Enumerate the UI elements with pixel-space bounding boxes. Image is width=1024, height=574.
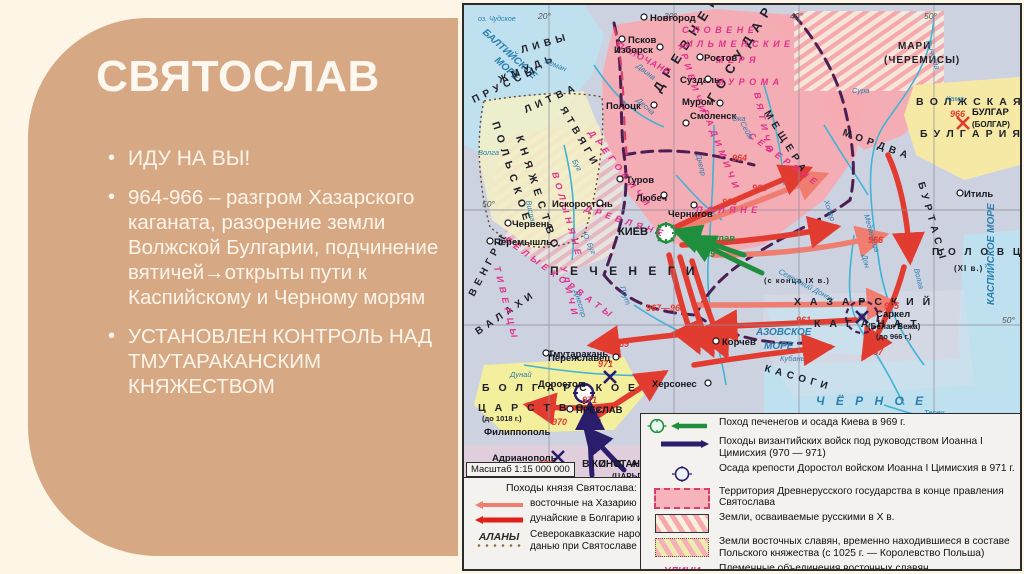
svg-text:Херсонес: Херсонес xyxy=(652,379,697,390)
svg-text:971: 971 xyxy=(582,395,597,405)
list-item: • УСТАНОВЛЕН КОНТРОЛЬ НАД ТМУТАРАКАНСКИМ… xyxy=(106,324,446,399)
svg-text:961: 961 xyxy=(796,315,811,325)
svg-text:Искоростень: Искоростень xyxy=(552,199,613,210)
byzantine-campaign-icon xyxy=(645,436,719,450)
svg-text:40°: 40° xyxy=(790,11,803,21)
svg-text:Доростол: Доростол xyxy=(538,379,584,390)
legend-symbols: Поход печенегов и осада Киева в 969 г. П… xyxy=(640,413,1020,569)
legend-item: Земли восточных славян, временно находив… xyxy=(645,536,1016,560)
svg-text:(XI в.): (XI в.) xyxy=(954,264,983,273)
legend-item-text: Земли, осваиваемые русскими в X в. xyxy=(719,512,895,524)
pecheneg-campaign-icon xyxy=(645,417,719,433)
svg-text:965: 965 xyxy=(884,301,900,311)
svg-text:Муром: Муром xyxy=(682,97,714,108)
legend-item-text: Племенные объединения восточных славян xyxy=(719,563,929,571)
svg-text:Кубань: Кубань xyxy=(780,354,805,363)
page-title: СВЯТОСЛАВ xyxy=(28,52,448,102)
legend-item: Походы византийских войск под руководств… xyxy=(645,436,1016,460)
bullet-marker: • xyxy=(108,324,115,349)
legend-item: Территория Древнерусского государства в … xyxy=(645,486,1016,510)
list-item: • ИДУ НА ВЫ! xyxy=(106,146,446,171)
svg-text:(до 1018 г.): (до 1018 г.) xyxy=(482,414,522,423)
arrow-dark-red-icon xyxy=(468,513,530,525)
svg-text:М У Р О М А: М У Р О М А xyxy=(716,77,780,87)
svg-text:50°: 50° xyxy=(924,11,937,21)
settled-lands-swatch-icon xyxy=(645,512,719,533)
svg-text:Изборск: Изборск xyxy=(614,45,653,56)
bullet-marker: • xyxy=(108,185,115,210)
legend-item: Осада крепости Доростол войском Иоанна I… xyxy=(645,463,1016,483)
svg-text:Суздаль: Суздаль xyxy=(680,75,720,86)
slavic-tribe-label-icon: УЛИЧИ xyxy=(645,563,719,571)
svg-text:967—968: 967—968 xyxy=(646,303,685,313)
svg-text:964: 964 xyxy=(732,153,747,163)
legend-item: УЛИЧИ Племенные объединения восточных сл… xyxy=(645,563,1016,571)
legend-item: Земли, осваиваемые русскими в X в. xyxy=(645,512,1016,533)
svg-text:КИЕВ: КИЕВ xyxy=(618,226,648,238)
svg-text:Дунай: Дунай xyxy=(509,370,532,379)
svg-text:50°: 50° xyxy=(482,199,495,209)
svg-text:50°: 50° xyxy=(1002,315,1015,325)
svg-text:Ч Ё Р Н О Е: Ч Ё Р Н О Е xyxy=(816,393,927,408)
map-canvas: 20°30° 40°50° 50°50° 40°40° 30° БАЛТИЙСК… xyxy=(464,5,1020,569)
alany-dotted-label-icon: АЛАНЫ xyxy=(468,529,530,548)
svg-text:(Белая Вежа): (Белая Вежа) xyxy=(868,322,921,331)
svg-text:Корчев: Корчев xyxy=(722,337,756,348)
bullet-text: УСТАНОВЛЕН КОНТРОЛЬ НАД ТМУТАРАКАНСКИМ К… xyxy=(128,325,432,398)
map-scale-bar: Масштаб 1:15 000 000 xyxy=(466,462,575,477)
legend-item-text: Поход печенегов и осада Киева в 969 г. xyxy=(719,417,905,429)
bullet-marker: • xyxy=(108,146,115,171)
svg-text:966: 966 xyxy=(950,109,966,119)
svg-text:(ЧЕРЕМИСЫ): (ЧЕРЕМИСЫ) xyxy=(884,55,960,66)
svg-text:(БОЛГАР): (БОЛГАР) xyxy=(972,120,1010,129)
svg-text:Переяслав: Переяслав xyxy=(684,233,735,244)
list-item: • 964-966 – разгром Хазарского каганата,… xyxy=(106,185,446,310)
arrow-light-red-icon xyxy=(468,498,530,510)
svg-text:Новгород: Новгород xyxy=(650,13,696,24)
svg-text:П О Л О В Ц Ы: П О Л О В Ц Ы xyxy=(932,247,1020,258)
svg-text:П Е Ч Е Н Е Г И: П Е Ч Е Н Е Г И xyxy=(550,264,699,278)
svg-text:МОРЕ: МОРЕ xyxy=(764,341,794,352)
svg-text:971: 971 xyxy=(598,359,613,369)
slide-root: СВЯТОСЛАВ • ИДУ НА ВЫ! • 964-966 – разгр… xyxy=(0,0,1024,574)
svg-text:Ростов: Ростов xyxy=(704,53,737,64)
svg-text:965: 965 xyxy=(722,197,738,207)
polish-lands-swatch-icon xyxy=(645,536,719,557)
legend-item: Поход печенегов и осада Киева в 969 г. xyxy=(645,417,1016,433)
svg-text:Кама: Кама xyxy=(946,94,964,103)
bullet-list: • ИДУ НА ВЫ! • 964-966 – разгром Хазарск… xyxy=(106,146,446,413)
svg-text:20°: 20° xyxy=(537,11,551,21)
svg-text:969: 969 xyxy=(700,249,715,259)
rus-territory-swatch-icon xyxy=(645,486,719,509)
svg-text:Туров: Туров xyxy=(626,175,654,186)
legend-item-text: Земли восточных славян, временно находив… xyxy=(719,536,1016,560)
svg-text:Х А З А Р С К И Й: Х А З А Р С К И Й xyxy=(794,295,933,308)
legend-symbol-label: АЛАНЫ xyxy=(479,531,520,543)
svg-text:Смоленск: Смоленск xyxy=(690,111,737,122)
svg-text:Волга: Волга xyxy=(478,148,499,157)
svg-text:969: 969 xyxy=(614,339,629,349)
svg-text:Итиль: Итиль xyxy=(964,189,993,200)
svg-text:С Л О В Е Н Е: С Л О В Е Н Е xyxy=(682,25,755,35)
svg-text:967: 967 xyxy=(868,347,884,357)
svg-text:Чернигов: Чернигов xyxy=(668,209,713,220)
svg-text:Сура: Сура xyxy=(852,86,869,95)
svg-text:Перемышль: Перемышль xyxy=(494,237,552,248)
content-panel: СВЯТОСЛАВ • ИДУ НА ВЫ! • 964-966 – разгр… xyxy=(28,18,458,556)
svg-text:(до 966 г.): (до 966 г.) xyxy=(876,332,912,341)
svg-text:И Л Ь М Е Н С К И Е: И Л Ь М Е Н С К И Е xyxy=(686,39,791,49)
legend-item-text: Осада крепости Доростол войском Иоанна I… xyxy=(719,463,1015,475)
siege-circle-icon xyxy=(645,463,719,483)
bullet-text: 964-966 – разгром Хазарского каганата, р… xyxy=(128,186,438,309)
svg-text:Филиппополь: Филиппополь xyxy=(484,427,550,438)
svg-text:966: 966 xyxy=(868,235,884,245)
historical-map: 20°30° 40°50° 50°50° 40°40° 30° БАЛТИЙСК… xyxy=(462,3,1022,571)
svg-text:оз. Чудское: оз. Чудское xyxy=(478,15,516,23)
svg-text:970: 970 xyxy=(552,417,567,427)
svg-text:Б У Л Г А Р И Я: Б У Л Г А Р И Я xyxy=(920,128,1020,140)
svg-text:БУЛГАР: БУЛГАР xyxy=(972,107,1009,118)
svg-text:ПРЕСЛАВ: ПРЕСЛАВ xyxy=(576,405,623,416)
svg-text:АЗОВСКОЕ: АЗОВСКОЕ xyxy=(755,327,812,338)
legend-symbol-label: УЛИЧИ xyxy=(664,565,701,571)
svg-text:966: 966 xyxy=(752,183,768,193)
bullet-text: ИДУ НА ВЫ! xyxy=(128,147,250,170)
legend-item-text: Походы византийских войск под руководств… xyxy=(719,436,1016,460)
legend-item-text: Территория Древнерусского государства в … xyxy=(719,486,1016,510)
